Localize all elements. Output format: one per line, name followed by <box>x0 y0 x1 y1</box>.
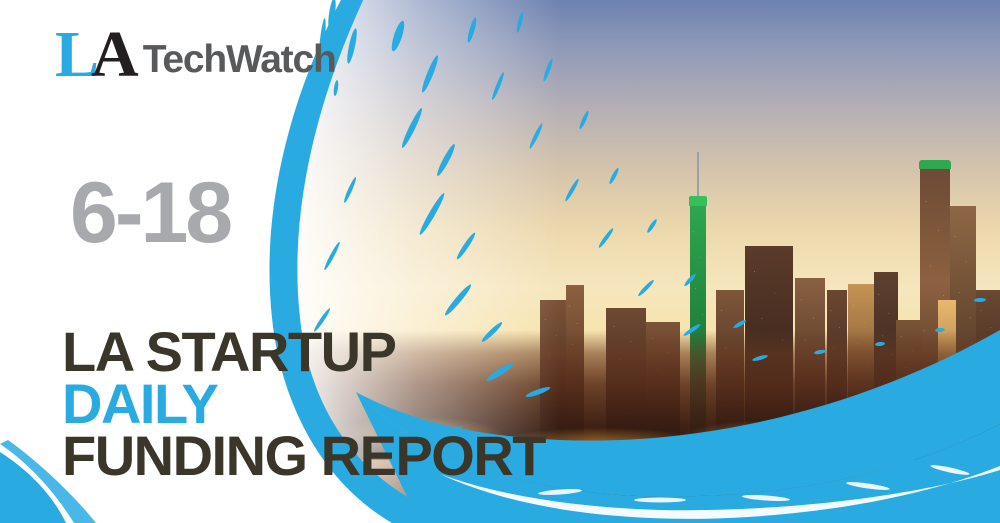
logo-wordmark: TechWatch <box>143 38 336 82</box>
logo[interactable]: L A TechWatch <box>55 22 336 88</box>
headline-line-1: LA STARTUP <box>62 326 545 378</box>
headline-line-2: DAILY <box>62 378 545 430</box>
headline-line-3: FUNDING REPORT <box>62 430 545 482</box>
banner-content: L A TechWatch 6-18 LA STARTUP DAILY FUND… <box>0 0 1000 523</box>
issue-date: 6-18 <box>70 170 230 256</box>
la-techwatch-banner: L A TechWatch 6-18 LA STARTUP DAILY FUND… <box>0 0 1000 523</box>
logo-letter-a: A <box>91 22 137 88</box>
headline: LA STARTUP DAILY FUNDING REPORT <box>62 326 545 482</box>
